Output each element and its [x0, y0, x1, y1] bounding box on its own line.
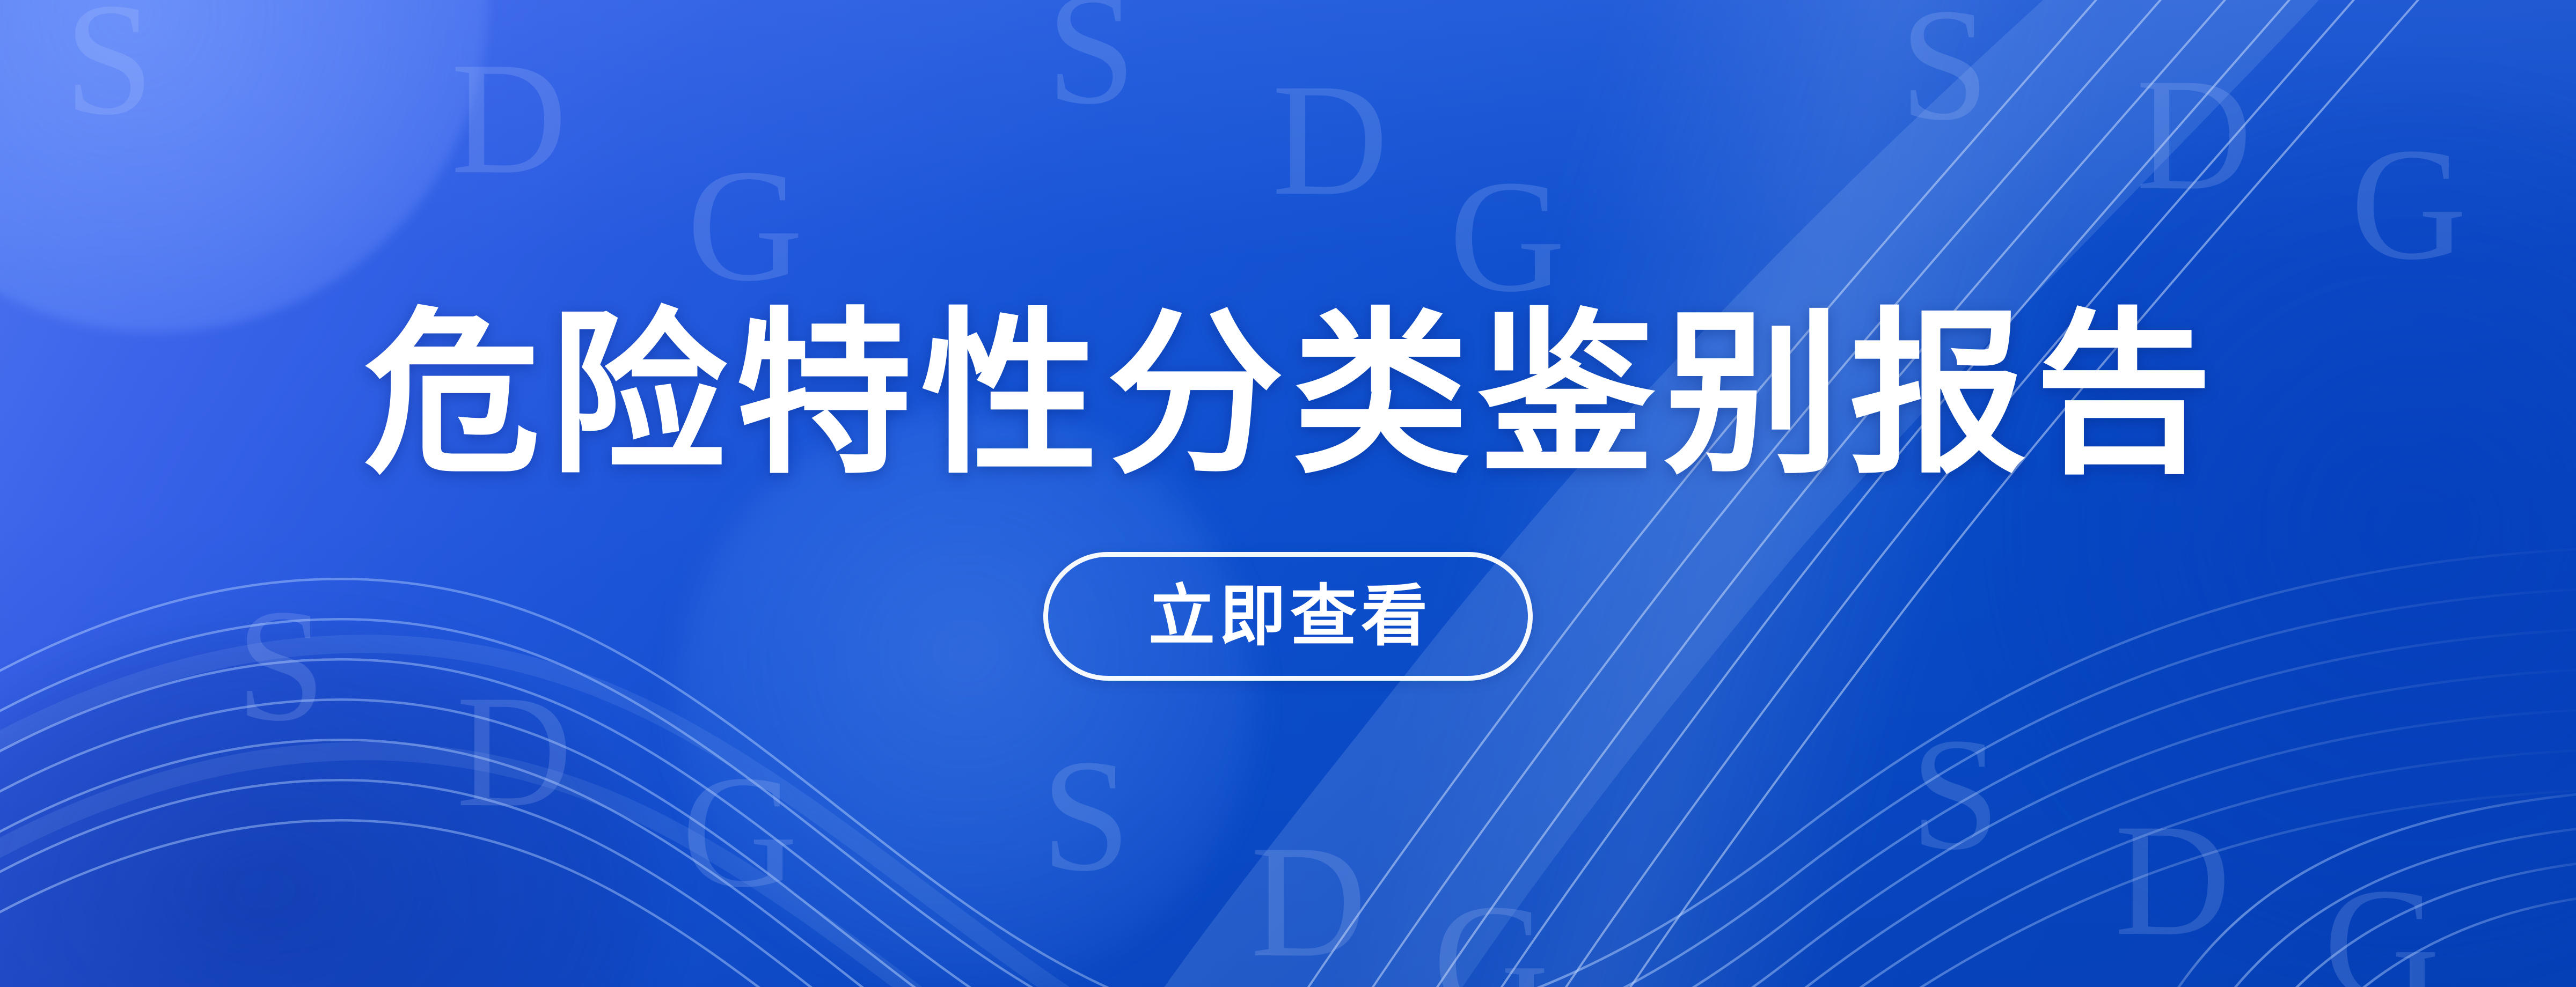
banner-title: 危险特性分类鉴别报告	[355, 306, 2221, 483]
banner-content: 危险特性分类鉴别报告 立即查看	[0, 0, 2576, 987]
view-now-button-label: 立即查看	[1144, 583, 1432, 650]
promo-banner: S D G S D G S D G S D G S D G S D G 危险特性…	[0, 0, 2576, 987]
view-now-button[interactable]: 立即查看	[1043, 552, 1533, 681]
